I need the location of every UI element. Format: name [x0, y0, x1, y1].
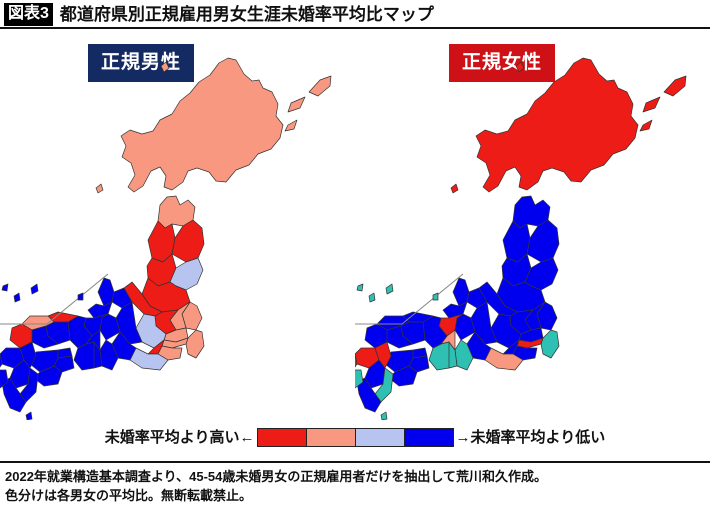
title-divider — [0, 27, 710, 29]
legend-color-bar — [257, 428, 454, 447]
prefecture-hokkaido — [476, 58, 638, 192]
legend-label-low: →未婚率平均より低い — [456, 430, 606, 445]
prefecture-iwate — [527, 220, 559, 262]
prefecture-hokkaido — [121, 58, 283, 192]
legend-swatch-very-high — [258, 429, 307, 446]
prefecture-okinawa — [357, 284, 363, 291]
map-panel-female: 正規女性 — [355, 30, 710, 420]
prefecture-hokkaido-island — [516, 62, 524, 72]
legend-swatch-high — [307, 429, 356, 446]
page-title: 都道府県別正規雇用男女生涯未婚率平均比マップ — [60, 6, 434, 23]
map-panel-male: 正規男性 — [0, 30, 355, 420]
figure-number-badge: 図表3 — [4, 3, 53, 26]
prefecture-hokkaido — [664, 76, 686, 96]
prefecture-hokkaido — [643, 97, 660, 112]
prefecture-ishikawa — [453, 278, 469, 306]
prefecture-okinawa — [31, 284, 38, 294]
prefecture-ishikawa — [98, 278, 114, 306]
prefecture-okinawa — [433, 293, 438, 300]
prefecture-hokkaido-island — [161, 62, 169, 72]
prefecture-hokkaido-island — [96, 184, 103, 193]
prefecture-okinawa — [386, 284, 393, 294]
prefecture-hokkaido — [309, 76, 331, 96]
footer-line-2: 色分けは各男女の平均比。無断転載禁止。 — [5, 487, 705, 506]
footer-note: 2022年就業構造基本調査より、45-54歳未婚男女の正規雇用者だけを抽出して荒… — [5, 468, 705, 506]
prefecture-hokkaido — [285, 120, 297, 131]
title-row: 図表3 都道府県別正規雇用男女生涯未婚率平均比マップ — [4, 3, 434, 26]
prefecture-hokkaido — [288, 97, 305, 112]
prefecture-chiba — [541, 330, 559, 358]
prefecture-hokkaido — [640, 120, 652, 131]
prefecture-iwate — [172, 220, 204, 262]
prefecture-okinawa — [369, 293, 375, 302]
prefecture-okinawa — [2, 284, 8, 291]
legend: 未婚率平均より高い← →未婚率平均より低い — [0, 420, 710, 454]
legend-label-high: 未婚率平均より高い← — [105, 430, 255, 445]
japan-map-female — [355, 30, 710, 420]
prefecture-chiba — [186, 330, 204, 358]
prefecture-okinawa — [14, 293, 20, 302]
infographic-root: 図表3 都道府県別正規雇用男女生涯未婚率平均比マップ 正規男性 — [0, 0, 710, 509]
japan-map-male — [0, 30, 355, 420]
prefecture-kagoshima-island — [381, 412, 387, 420]
footer-divider — [0, 461, 710, 463]
prefecture-kagoshima-island — [26, 412, 32, 420]
legend-swatch-low — [356, 429, 405, 446]
footer-line-1: 2022年就業構造基本調査より、45-54歳未婚男女の正規雇用者だけを抽出して荒… — [5, 468, 705, 487]
prefecture-hokkaido-island — [451, 184, 458, 193]
prefecture-okinawa — [78, 293, 83, 300]
legend-swatch-very-low — [405, 429, 453, 446]
